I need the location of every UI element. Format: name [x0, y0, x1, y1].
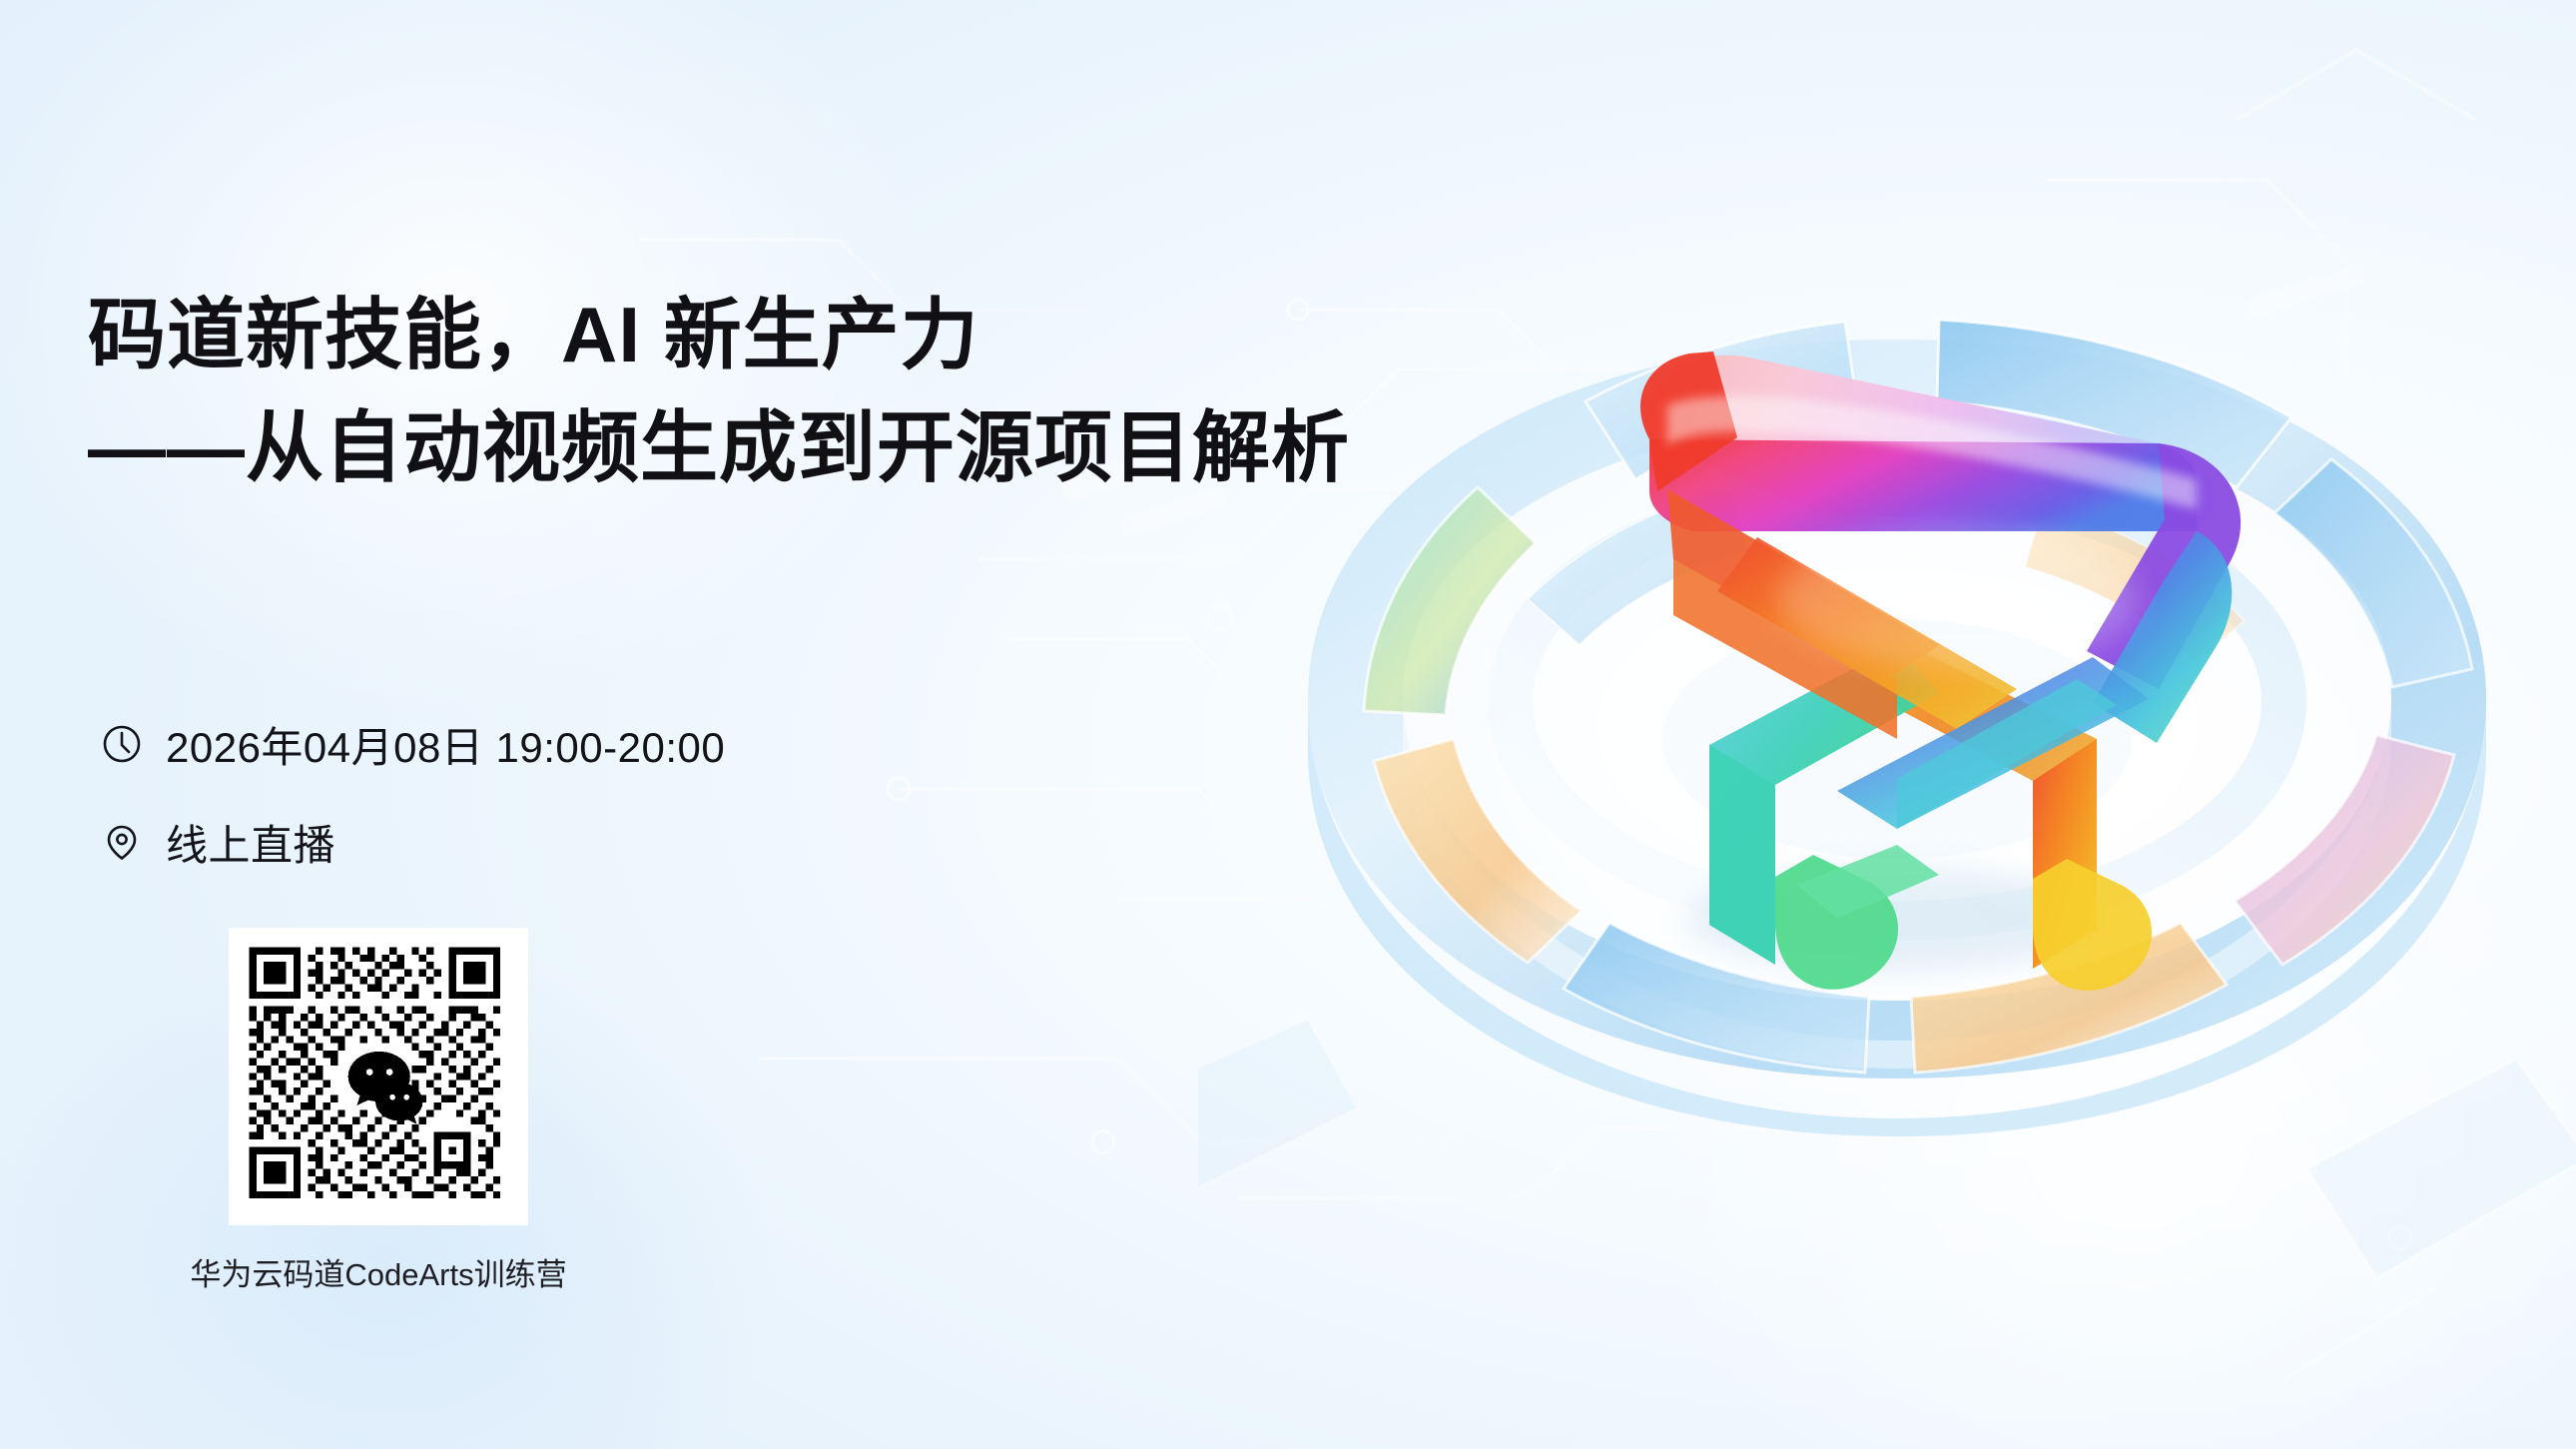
clock-icon [100, 722, 144, 766]
event-datetime-text: 2026年04月08日 19:00-20:00 [166, 714, 725, 775]
event-location-row: 线上直播 [100, 811, 725, 873]
page-title-line-2: ——从自动视频生成到开源项目解析 [88, 404, 1350, 491]
poster-canvas: 码道新技能，AI 新生产力 ——从自动视频生成到开源项目解析 2026年04月0… [0, 0, 2576, 1449]
location-pin-icon [100, 820, 144, 864]
event-location-text: 线上直播 [166, 812, 335, 873]
poster-title-block: 码道新技能，AI 新生产力 ——从自动视频生成到开源项目解析 [88, 292, 1350, 492]
page-title-line-1: 码道新技能，AI 新生产力 [88, 292, 1350, 378]
qr-code-image[interactable] [241, 940, 516, 1213]
event-meta-block: 2026年04月08日 19:00-20:00 线上直播 [100, 713, 725, 873]
codearts-emblem-artwork [1198, 40, 2576, 1438]
qr-code-block: 华为云码道CodeArts训练营 [229, 928, 528, 1225]
background-wash-bottom-right [1438, 550, 2576, 1449]
event-datetime-row: 2026年04月08日 19:00-20:00 [100, 713, 725, 775]
qr-code-caption: 华为云码道CodeArts训练营 [139, 1249, 618, 1294]
qr-code-card[interactable] [229, 928, 528, 1225]
